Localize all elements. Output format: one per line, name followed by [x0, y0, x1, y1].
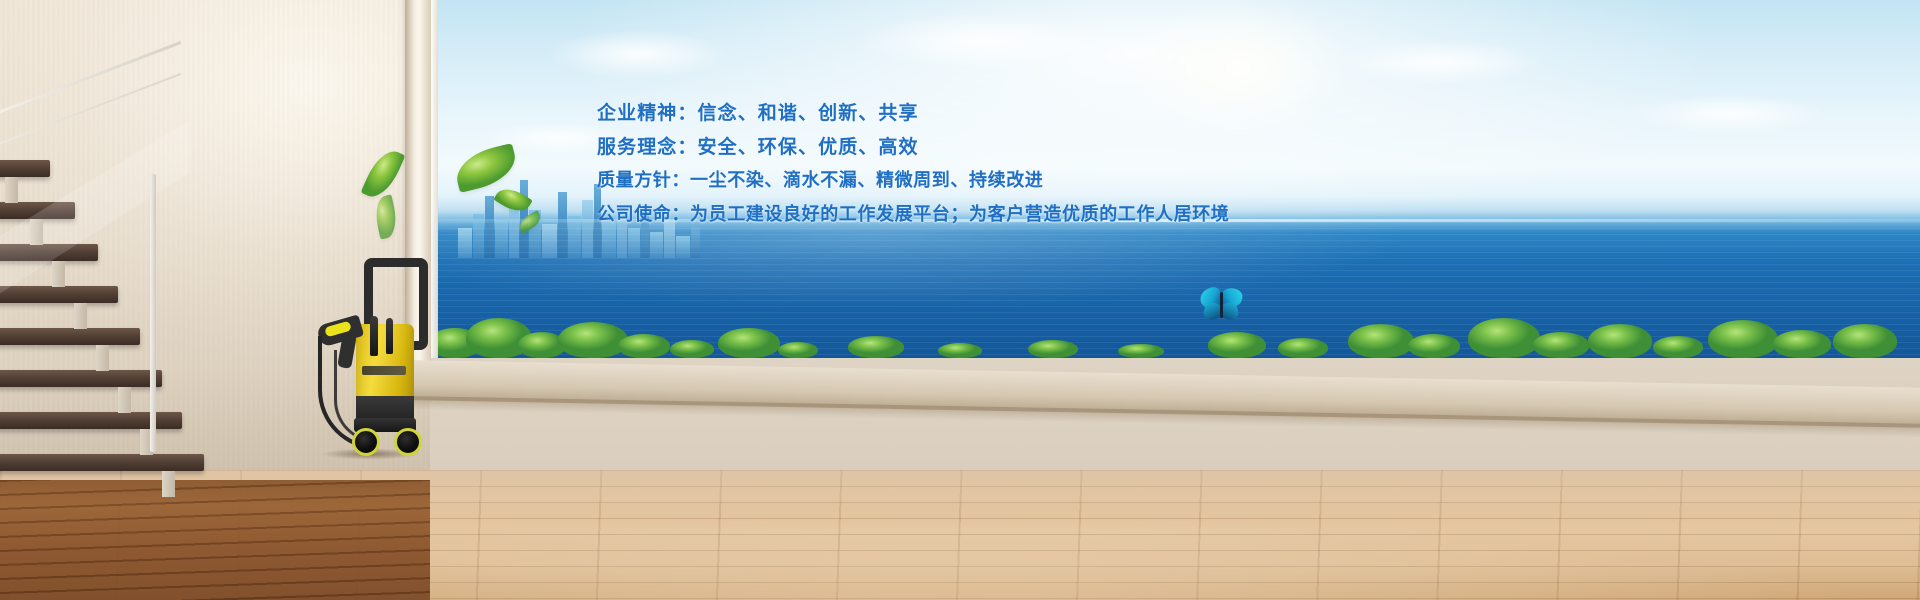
tree — [778, 342, 818, 358]
stair-riser — [74, 303, 87, 329]
tree — [1773, 330, 1831, 358]
stair-step — [0, 370, 162, 387]
washer-wheel — [352, 428, 380, 456]
pressure-washer — [312, 258, 422, 458]
butterfly — [1200, 288, 1244, 330]
tree — [1348, 324, 1414, 358]
stair-step — [0, 328, 140, 345]
stair-riser — [5, 177, 18, 203]
philosophy-line-service: 服务理念：安全、环保、优质、高效 — [597, 130, 1357, 164]
treeline — [418, 312, 1920, 358]
tree — [1833, 324, 1897, 358]
tree — [670, 340, 714, 358]
philosophy-line-quality: 质量方针：一尘不染、滴水不漏、精微周到、持续改进 — [597, 164, 1357, 198]
tree — [848, 336, 904, 358]
tree — [1653, 336, 1703, 358]
butterfly-body — [1220, 292, 1223, 318]
stair-riser — [52, 261, 65, 287]
tree — [1028, 340, 1078, 358]
tree — [618, 334, 670, 358]
tree — [938, 343, 982, 358]
tree — [1118, 344, 1164, 358]
floor-dark-wood-grain — [0, 480, 430, 600]
tree — [1468, 318, 1540, 358]
washer-lance-nozzle-secondary — [386, 318, 393, 354]
tree — [1408, 334, 1460, 358]
stair-step — [0, 454, 204, 471]
window-bead — [431, 0, 438, 358]
stair-riser — [162, 471, 175, 497]
stair-step — [0, 160, 50, 177]
stair-riser — [118, 387, 131, 413]
stair-step — [0, 286, 118, 303]
tree — [718, 328, 780, 358]
cloud — [508, 19, 768, 89]
washer-wheel — [394, 428, 422, 456]
philosophy-line-mission: 公司使命：为员工建设良好的工作发展平台；为客户营造优质的工作人居环境 — [597, 198, 1357, 232]
cloud — [1590, 86, 1870, 142]
philosophy-text-block: 企业精神：信念、和谐、创新、共享 服务理念：安全、环保、优质、高效 质量方针：一… — [597, 96, 1357, 232]
railing-post — [150, 174, 156, 452]
tree — [1278, 338, 1328, 358]
banner-stage: 企业精神：信念、和谐、创新、共享 服务理念：安全、环保、优质、高效 质量方针：一… — [0, 0, 1920, 600]
tree — [1208, 332, 1266, 358]
tree — [1588, 324, 1652, 358]
tree — [1533, 332, 1589, 358]
stair-riser — [96, 345, 109, 371]
philosophy-line-spirit: 企业精神：信念、和谐、创新、共享 — [597, 96, 1357, 130]
cloud — [809, 1, 1149, 81]
tree — [1708, 320, 1778, 358]
tree — [558, 322, 628, 358]
